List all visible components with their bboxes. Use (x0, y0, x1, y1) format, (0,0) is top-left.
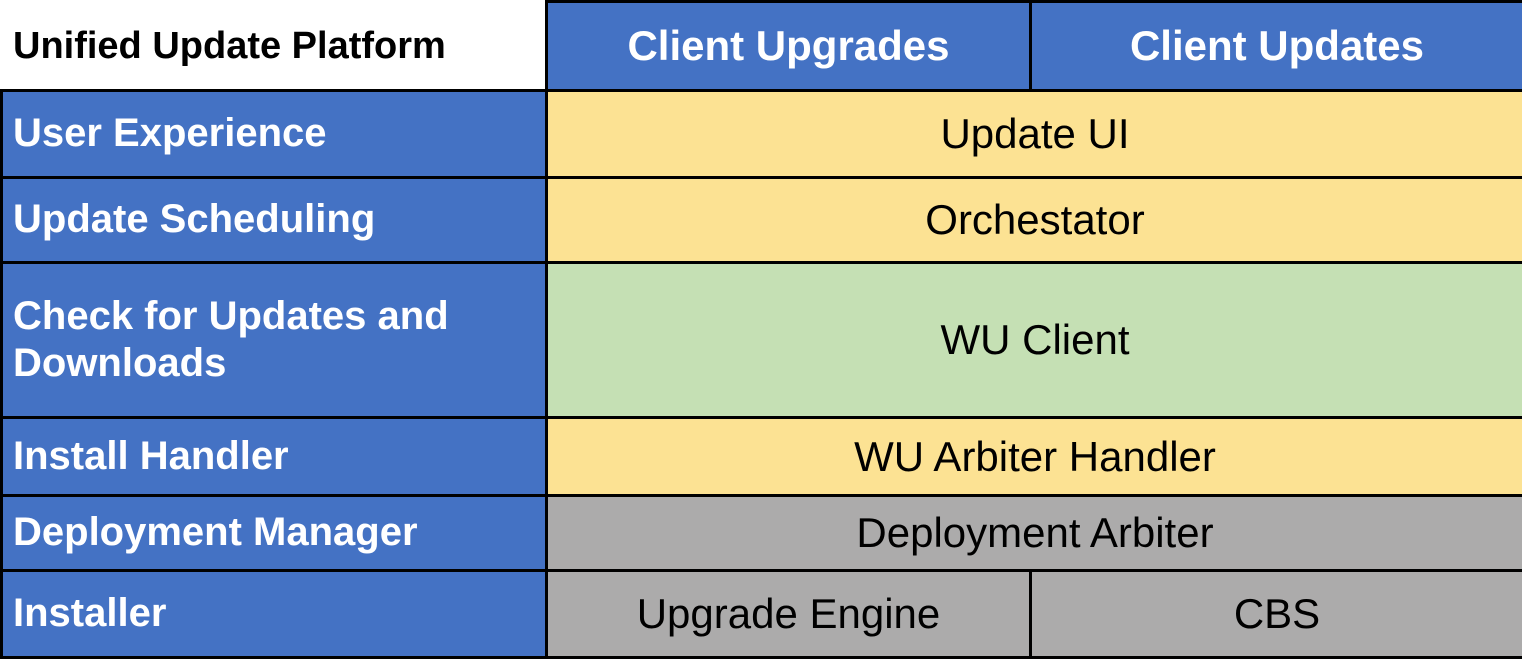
cell-wu-client: WU Client (547, 263, 1522, 418)
cell-cbs: CBS (1031, 571, 1522, 658)
cell-wu-arbiter-handler: WU Arbiter Handler (547, 418, 1522, 496)
column-header-client-upgrades: Client Upgrades (547, 2, 1031, 91)
unified-update-platform-table: Unified Update Platform Client Upgrades … (0, 0, 1522, 659)
table-row: Install Handler WU Arbiter Handler (2, 418, 1522, 496)
table-row: Deployment Manager Deployment Arbiter (2, 496, 1522, 571)
row-label-install-handler: Install Handler (2, 418, 547, 496)
table-row: Update Scheduling Orchestator (2, 178, 1522, 263)
table-corner-title: Unified Update Platform (2, 2, 547, 91)
table-header-row: Unified Update Platform Client Upgrades … (2, 2, 1522, 91)
table-row: Installer Upgrade Engine CBS (2, 571, 1522, 658)
row-label-deployment-manager: Deployment Manager (2, 496, 547, 571)
cell-orchestator: Orchestator (547, 178, 1522, 263)
cell-update-ui: Update UI (547, 91, 1522, 178)
table-row: Check for Updates and Downloads WU Clien… (2, 263, 1522, 418)
row-label-update-scheduling: Update Scheduling (2, 178, 547, 263)
cell-deployment-arbiter: Deployment Arbiter (547, 496, 1522, 571)
row-label-installer: Installer (2, 571, 547, 658)
column-header-client-updates: Client Updates (1031, 2, 1522, 91)
table-row: User Experience Update UI (2, 91, 1522, 178)
row-label-check-for-updates-and-downloads: Check for Updates and Downloads (2, 263, 547, 418)
cell-upgrade-engine: Upgrade Engine (547, 571, 1031, 658)
row-label-user-experience: User Experience (2, 91, 547, 178)
